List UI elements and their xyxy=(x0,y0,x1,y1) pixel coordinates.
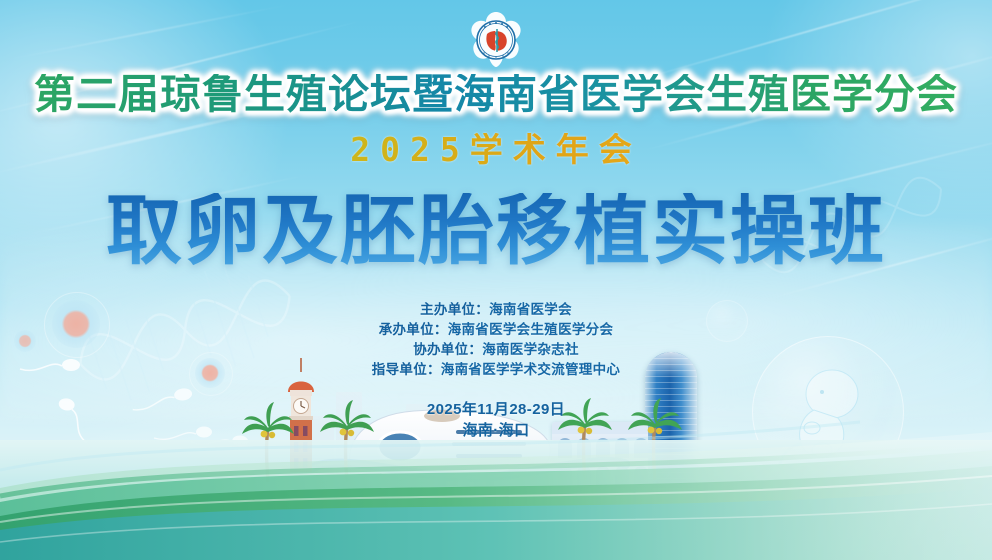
organizer-label: 协办单位： xyxy=(413,342,482,357)
event-date: 2025年11月28-29日 xyxy=(0,399,992,420)
hainan-medical-association-logo xyxy=(463,10,529,72)
organizer-label: 指导单位： xyxy=(372,362,441,377)
organizer-value: 海南省医学学术交流管理中心 xyxy=(441,362,620,377)
organizer-row: 指导单位：海南省医学学术交流管理中心 xyxy=(0,360,992,380)
organizer-row: 主办单位：海南省医学会 xyxy=(0,300,992,320)
organizer-label: 主办单位： xyxy=(420,302,489,317)
organizer-label: 承办单位： xyxy=(379,322,448,337)
conference-subtitle: 2025学术年会 xyxy=(0,133,992,166)
organizer-value: 海南医学杂志社 xyxy=(482,342,579,357)
organizer-block: 主办单位：海南省医学会 承办单位：海南省医学会生殖医学分会 协办单位：海南医学杂… xyxy=(0,300,992,380)
organizer-row: 承办单位：海南省医学会生殖医学分会 xyxy=(0,320,992,340)
conference-title: 第二届琼鲁生殖论坛暨海南省医学会生殖医学分会 xyxy=(0,74,992,115)
organizer-row: 协办单位：海南医学杂志社 xyxy=(0,340,992,360)
organizer-value: 海南省医学会 xyxy=(489,302,572,317)
event-location: 海南·海口 xyxy=(0,420,992,441)
date-location-block: 2025年11月28-29日 海南·海口 xyxy=(0,399,992,441)
course-headline: 取卵及胚胎移植实操班 xyxy=(0,193,992,269)
conference-poster: 第二届琼鲁生殖论坛暨海南省医学会生殖医学分会 2025学术年会 取卵及胚胎移植实… xyxy=(0,0,992,560)
organizer-value: 海南省医学会生殖医学分会 xyxy=(448,322,614,337)
